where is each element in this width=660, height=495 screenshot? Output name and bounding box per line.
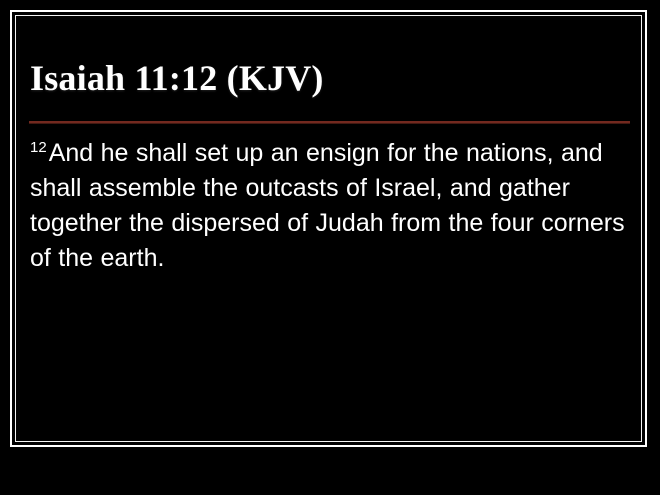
title-block: Isaiah 11:12 (KJV) <box>30 56 630 100</box>
presentation-slide: Isaiah 11:12 (KJV) 12And he shall set up… <box>0 0 660 495</box>
slide-title: Isaiah 11:12 (KJV) <box>30 56 630 100</box>
title-divider-rule <box>29 121 630 123</box>
verse-number-superscript: 12 <box>30 139 47 156</box>
verse-paragraph: 12And he shall set up an ensign for the … <box>30 136 636 276</box>
verse-text: And he shall set up an ensign for the na… <box>30 139 625 272</box>
verse-body-block: 12And he shall set up an ensign for the … <box>30 136 636 276</box>
